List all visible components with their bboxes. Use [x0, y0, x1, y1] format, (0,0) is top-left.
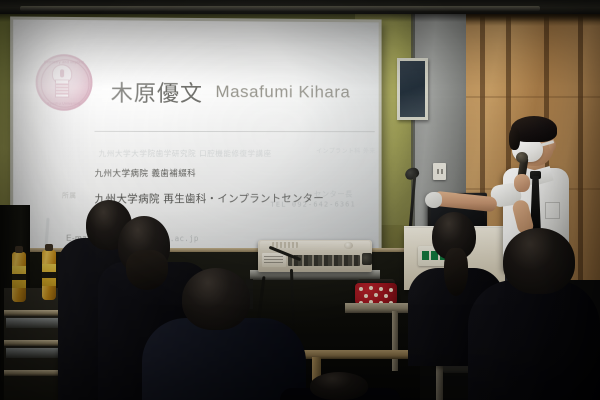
side-table-leg — [392, 311, 398, 371]
storage-shelf — [4, 288, 66, 400]
audience-head — [503, 228, 575, 294]
projector-lens — [362, 253, 372, 265]
tea-bottle — [12, 252, 26, 302]
shelf-glass — [6, 318, 64, 328]
ceiling-track-bar — [20, 6, 540, 11]
presenter-left-hand — [425, 192, 442, 208]
audience-member — [468, 280, 600, 400]
shirt-pocket — [545, 202, 560, 219]
projector — [258, 240, 372, 272]
projector-focus-dial[interactable] — [344, 242, 353, 249]
power-outlet — [433, 163, 446, 180]
audience-member — [142, 318, 306, 400]
shelf-board — [4, 310, 66, 316]
presenter-right-hand — [514, 174, 530, 192]
artwork-canvas — [400, 61, 425, 117]
projector-vent — [272, 242, 298, 248]
presenter-hair-side — [509, 128, 520, 150]
bottle-cap — [15, 246, 23, 253]
bottle-label-band — [12, 274, 26, 280]
bottle-label-band — [42, 272, 56, 278]
wood-grain — [466, 96, 600, 98]
tea-bottle — [42, 250, 56, 300]
audience-ponytail — [444, 248, 468, 296]
projection-screen: Dentistry and Implant Kyushu University … — [10, 16, 381, 277]
audience-head — [310, 372, 368, 400]
audience-head — [182, 268, 250, 330]
bottle-cap — [45, 244, 53, 251]
microphone-capsule-icon — [516, 152, 528, 163]
photograph-seminar-presentation: Dentistry and Implant Kyushu University … — [0, 0, 600, 400]
audience-hair — [126, 250, 168, 290]
screen-surface: Dentistry and Implant Kyushu University … — [13, 20, 378, 275]
framed-artwork — [397, 58, 428, 120]
projector-label-panel — [262, 253, 286, 267]
shelf-board — [4, 370, 66, 376]
shelf-glass — [6, 348, 64, 358]
shelf-board — [4, 340, 66, 346]
screen-vignette — [13, 20, 378, 275]
